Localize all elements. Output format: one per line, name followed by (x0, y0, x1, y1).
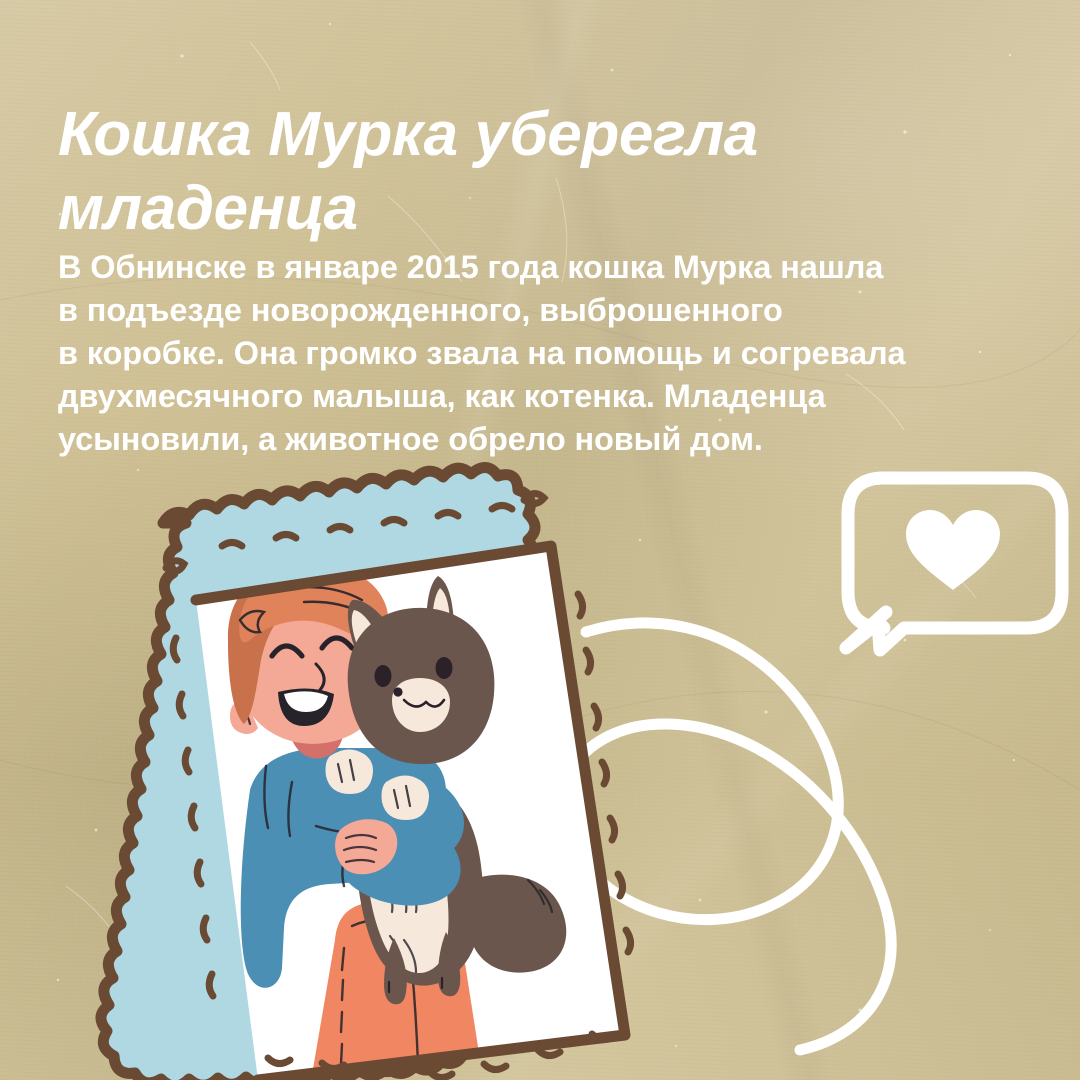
body-line: в подъезде новорожденного, выброшенного (58, 289, 1018, 332)
page-title: Кошка Мурка уберегла младенца (58, 98, 958, 246)
body-line: двухмесячного малыша, как котенка. Младе… (58, 375, 1018, 418)
body-line: усыновили, а животное обрело новый дом. (58, 418, 1018, 461)
body-line: В Обнинске в январе 2015 года кошка Мурк… (58, 246, 1018, 289)
poster-canvas: Кошка Мурка уберегла младенца В Обнинске… (0, 0, 1080, 1080)
body-paragraph: В Обнинске в январе 2015 года кошка Мурк… (58, 246, 1018, 461)
body-line: в коробке. Она громко звала на помощь и … (58, 332, 1018, 375)
